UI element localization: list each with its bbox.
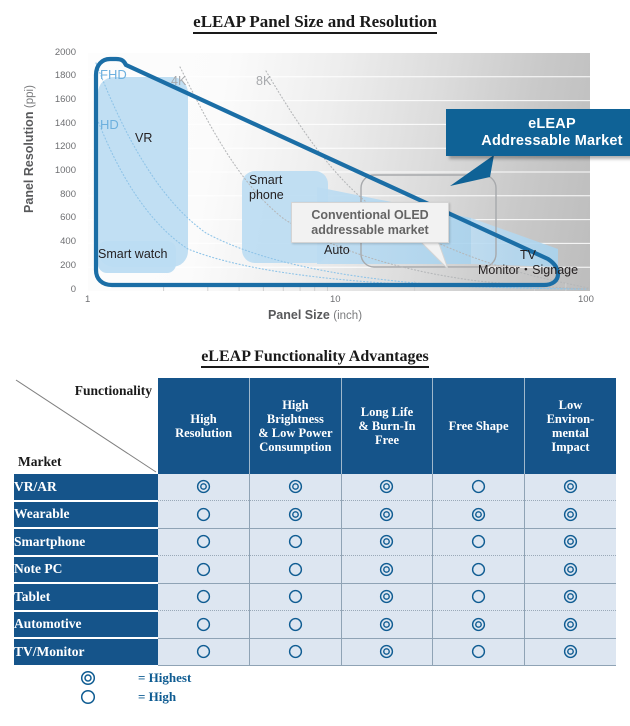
double-circle-icon <box>563 507 578 522</box>
callout-line2: Addressable Market <box>481 133 622 149</box>
column-header-free-shape: Free Shape <box>433 378 525 474</box>
x-tick-1: 1 <box>85 295 90 305</box>
column-header-line: Consumption <box>250 440 341 454</box>
table-header-row: Functionality Market HighResolution High… <box>14 378 616 474</box>
double-circle-icon <box>288 479 303 494</box>
column-header-low-environmental-impact: LowEnviron-mentalImpact <box>524 378 616 474</box>
row-header-wearable: Wearable <box>14 501 158 529</box>
smart-phone-line1: Smart <box>249 173 284 188</box>
double-circle-icon <box>563 644 578 659</box>
x-tick-100: 100 <box>578 295 594 305</box>
chart-title-text: eLEAP Panel Size and Resolution <box>193 12 437 34</box>
circle-icon <box>196 562 211 577</box>
row-header-vr-ar: VR/AR <box>14 474 158 501</box>
circle-icon <box>288 589 303 604</box>
cell-smartphone-4 <box>524 528 616 556</box>
double-circle-icon <box>379 507 394 522</box>
corner-label-functionality: Functionality <box>75 383 152 399</box>
circle-icon <box>471 644 486 659</box>
circle-icon <box>196 617 211 632</box>
legend-label-high: = High <box>116 689 176 705</box>
x-axis-label-unit: (inch) <box>333 310 362 322</box>
legend-label-highest: = Highest <box>116 670 191 686</box>
column-header-line: & Burn-In <box>342 419 433 433</box>
chart-title: eLEAP Panel Size and Resolution <box>0 12 630 32</box>
cell-smartphone-2 <box>341 528 433 556</box>
region-label-smart-phone: Smart phone <box>249 173 284 203</box>
callout-line1: eLEAP <box>481 116 622 132</box>
cell-wearable-0 <box>158 501 250 529</box>
cell-automotive-1 <box>250 611 342 639</box>
table-row: Tablet <box>14 583 616 611</box>
double-circle-icon <box>563 589 578 604</box>
cell-tv-monitor-3 <box>433 638 525 666</box>
x-tick-10: 10 <box>330 295 341 305</box>
y-tick-1200: 1200 <box>30 142 76 152</box>
circle-icon <box>196 644 211 659</box>
table-row: Smartphone <box>14 528 616 556</box>
circle-icon <box>471 534 486 549</box>
column-header-line: & Low Power <box>250 426 341 440</box>
cell-wearable-3 <box>433 501 525 529</box>
y-tick-200: 200 <box>30 261 76 271</box>
cell-wearable-2 <box>341 501 433 529</box>
cell-smartphone-3 <box>433 528 525 556</box>
circle-icon <box>288 534 303 549</box>
double-circle-icon <box>379 589 394 604</box>
table-body: VR/ARWearableSmartphoneNote PCTabletAuto… <box>14 474 616 666</box>
curve-label-8k: 8K <box>256 74 271 88</box>
cell-automotive-2 <box>341 611 433 639</box>
column-header-line: High <box>158 412 249 426</box>
table-row: Automotive <box>14 611 616 639</box>
circle-icon <box>196 534 211 549</box>
double-circle-icon <box>379 479 394 494</box>
cell-tablet-0 <box>158 583 250 611</box>
eleap-addressable-market-callout: eLEAP Addressable Market <box>446 109 630 156</box>
column-header-line: mental <box>525 426 616 440</box>
cell-wearable-4 <box>524 501 616 529</box>
table-row: Wearable <box>14 501 616 529</box>
column-header-line: Free Shape <box>433 419 524 433</box>
cell-note-pc-1 <box>250 556 342 584</box>
row-header-tablet: Tablet <box>14 583 158 611</box>
circle-icon <box>288 617 303 632</box>
y-tick-800: 800 <box>30 190 76 200</box>
column-header-line: Long Life <box>342 405 433 419</box>
curve-label-hd: HD <box>100 117 119 132</box>
x-axis-label: Panel Size (inch) <box>0 308 630 322</box>
column-header-line: Resolution <box>158 426 249 440</box>
double-circle-icon <box>60 670 116 686</box>
legend-row-highest: = Highest <box>60 668 360 687</box>
y-tick-1400: 1400 <box>30 119 76 129</box>
smart-phone-line2: phone <box>249 188 284 203</box>
cell-vr-ar-1 <box>250 474 342 501</box>
conventional-oled-line2: addressable market <box>311 223 428 238</box>
tv-line1: TV <box>478 248 578 263</box>
cell-tablet-1 <box>250 583 342 611</box>
conventional-oled-callout: Conventional OLED addressable market <box>291 202 449 243</box>
double-circle-icon <box>563 479 578 494</box>
circle-icon <box>471 479 486 494</box>
row-header-automotive: Automotive <box>14 611 158 639</box>
circle-icon <box>196 507 211 522</box>
cell-tv-monitor-1 <box>250 638 342 666</box>
column-header-line: Environ- <box>525 412 616 426</box>
conventional-oled-line1: Conventional OLED <box>311 208 428 223</box>
note-pc-line3: Auto <box>324 243 371 258</box>
cell-automotive-0 <box>158 611 250 639</box>
table-title: eLEAP Functionality Advantages <box>0 348 630 366</box>
column-header-high-resolution: HighResolution <box>158 378 250 474</box>
table-title-text: eLEAP Functionality Advantages <box>201 348 429 368</box>
region-label-tv: TV Monitor・Signage <box>478 248 578 278</box>
x-axis-label-main: Panel Size <box>268 308 333 322</box>
curve-label-4k: 4K <box>171 74 186 88</box>
cell-note-pc-4 <box>524 556 616 584</box>
double-circle-icon <box>379 644 394 659</box>
y-tick-400: 400 <box>30 237 76 247</box>
double-circle-icon <box>288 507 303 522</box>
circle-icon <box>196 589 211 604</box>
column-header-line: High <box>250 398 341 412</box>
cell-tablet-3 <box>433 583 525 611</box>
functionality-advantages-table: Functionality Market HighResolution High… <box>14 378 616 667</box>
column-header-line: Impact <box>525 440 616 454</box>
double-circle-icon <box>563 534 578 549</box>
column-header-line: Brightness <box>250 412 341 426</box>
curve-label-fhd: FHD <box>100 67 127 82</box>
cell-tablet-4 <box>524 583 616 611</box>
table-row: Note PC <box>14 556 616 584</box>
y-tick-1000: 1000 <box>30 166 76 176</box>
cell-note-pc-2 <box>341 556 433 584</box>
cell-note-pc-3 <box>433 556 525 584</box>
cell-vr-ar-3 <box>433 474 525 501</box>
column-header-high-brightness: HighBrightness& Low PowerConsumption <box>250 378 342 474</box>
column-header-long-life: Long Life& Burn-InFree <box>341 378 433 474</box>
cell-automotive-3 <box>433 611 525 639</box>
cell-note-pc-0 <box>158 556 250 584</box>
cell-vr-ar-2 <box>341 474 433 501</box>
cell-tablet-2 <box>341 583 433 611</box>
chart-plot-area: FHD HD 4K 8K VR Smart watch Smart phone … <box>88 53 590 291</box>
circle-icon <box>471 562 486 577</box>
cell-vr-ar-4 <box>524 474 616 501</box>
y-tick-1600: 1600 <box>30 95 76 105</box>
cell-tv-monitor-0 <box>158 638 250 666</box>
legend-row-high: = High <box>60 687 360 706</box>
circle-icon <box>471 589 486 604</box>
cell-vr-ar-0 <box>158 474 250 501</box>
panel-size-resolution-chart: Panel Resolution (ppi) Panel Size (inch)… <box>0 44 630 324</box>
y-tick-1800: 1800 <box>30 71 76 81</box>
conventional-oled-callout-tail <box>418 239 454 271</box>
matrix-table: Functionality Market HighResolution High… <box>14 378 616 667</box>
circle-icon <box>288 644 303 659</box>
row-header-note-pc: Note PC <box>14 556 158 584</box>
cell-smartphone-1 <box>250 528 342 556</box>
circle-icon <box>288 562 303 577</box>
column-header-line: Low <box>525 398 616 412</box>
double-circle-icon <box>471 507 486 522</box>
cell-automotive-4 <box>524 611 616 639</box>
double-circle-icon <box>471 617 486 632</box>
corner-label-market: Market <box>18 454 61 470</box>
cell-wearable-1 <box>250 501 342 529</box>
cell-tv-monitor-4 <box>524 638 616 666</box>
double-circle-icon <box>563 562 578 577</box>
region-label-smart-watch: Smart watch <box>98 247 167 262</box>
corner-cell: Functionality Market <box>14 378 158 474</box>
table-row: TV/Monitor <box>14 638 616 666</box>
double-circle-icon <box>379 562 394 577</box>
eleap-callout-tail <box>450 155 494 188</box>
slide-root: eLEAP Panel Size and Resolution Panel Re… <box>0 0 630 726</box>
cell-tv-monitor-2 <box>341 638 433 666</box>
row-header-tv-monitor: TV/Monitor <box>14 638 158 666</box>
column-header-line: Free <box>342 433 433 447</box>
circle-icon <box>60 689 116 705</box>
symbol-legend: = Highest = High <box>60 668 360 706</box>
double-circle-icon <box>196 479 211 494</box>
double-circle-icon <box>379 617 394 632</box>
tv-line2: Monitor・Signage <box>478 263 578 278</box>
y-tick-0: 0 <box>30 285 76 295</box>
region-label-vr: VR <box>135 131 152 146</box>
double-circle-icon <box>379 534 394 549</box>
y-tick-2000: 2000 <box>30 48 76 58</box>
double-circle-icon <box>563 617 578 632</box>
y-tick-600: 600 <box>30 213 76 223</box>
cell-smartphone-0 <box>158 528 250 556</box>
table-row: VR/AR <box>14 474 616 501</box>
row-header-smartphone: Smartphone <box>14 528 158 556</box>
